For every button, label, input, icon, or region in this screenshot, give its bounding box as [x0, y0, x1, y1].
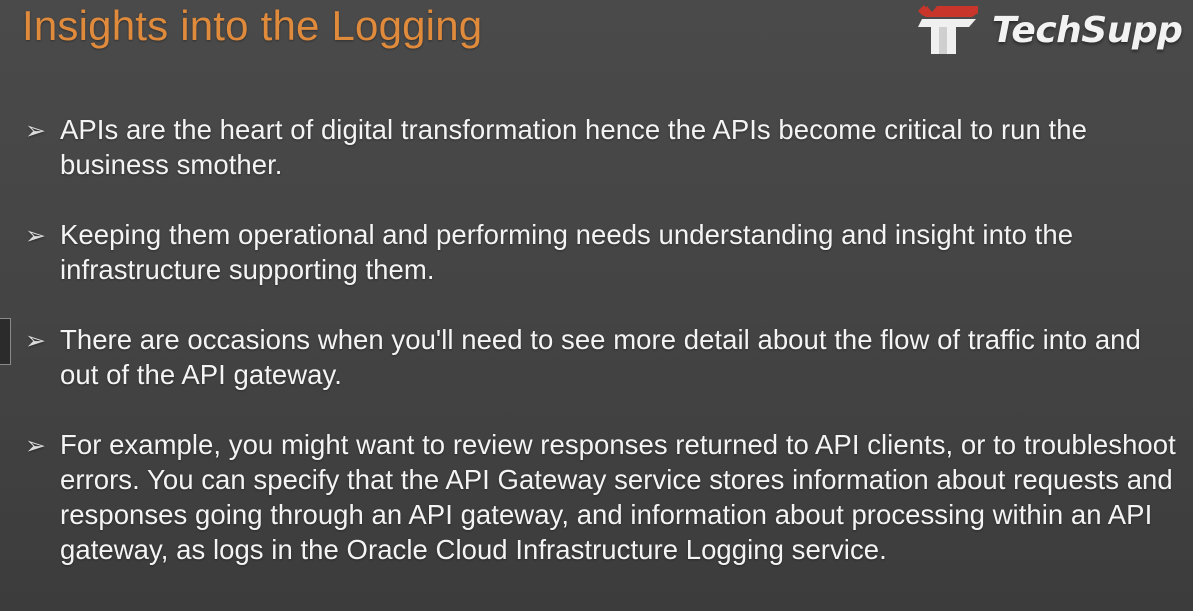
list-item: ➢ There are occasions when you'll need t… — [22, 322, 1182, 392]
list-item: ➢ For example, you might want to review … — [22, 427, 1182, 567]
list-item-text: Keeping them operational and performing … — [60, 217, 1182, 287]
list-item-text: APIs are the heart of digital transforma… — [60, 112, 1182, 182]
arrow-bullet-icon: ➢ — [22, 217, 60, 255]
tt-monogram-icon — [916, 4, 982, 56]
list-item: ➢ Keeping them operational and performin… — [22, 217, 1182, 287]
brand-logo: TechSupp — [916, 4, 1182, 56]
edge-panel-artifact — [0, 318, 11, 365]
arrow-bullet-icon: ➢ — [22, 322, 60, 360]
list-item-text: There are occasions when you'll need to … — [60, 322, 1182, 392]
brand-name: TechSupp — [992, 10, 1182, 51]
page-title: Insights into the Logging — [22, 2, 482, 50]
list-item-text: For example, you might want to review re… — [60, 427, 1182, 567]
arrow-bullet-icon: ➢ — [22, 112, 60, 150]
arrow-bullet-icon: ➢ — [22, 427, 60, 465]
bullet-list: ➢ APIs are the heart of digital transfor… — [22, 112, 1182, 567]
list-item: ➢ APIs are the heart of digital transfor… — [22, 112, 1182, 182]
